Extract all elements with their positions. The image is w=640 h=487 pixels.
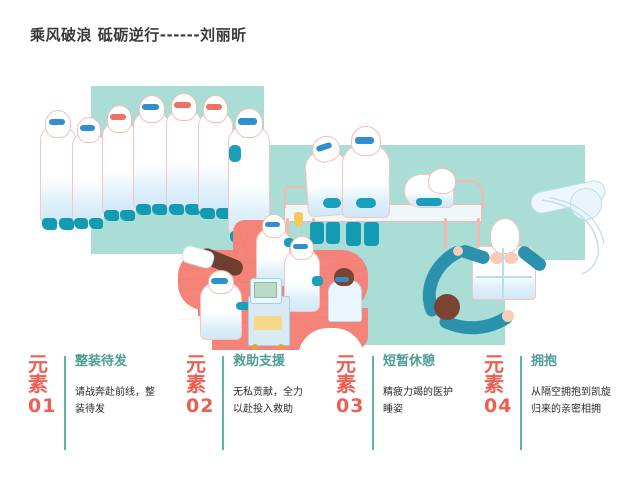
goggle-icon: [142, 104, 159, 110]
legend-text-block: 整装待发 请战奔赴前线，整装待发: [75, 352, 158, 419]
ppe-glove: [312, 276, 323, 286]
legend-item-01: 元素 01 整装待发 请战奔赴前线，整装待发: [0, 352, 158, 462]
ppe-glove: [356, 198, 376, 208]
ppe-glove: [229, 145, 241, 162]
embrace-arm-curve: [412, 246, 522, 338]
ppe-boot: [104, 210, 119, 221]
ppe-glove: [323, 198, 341, 208]
ppe-boot: [89, 218, 103, 229]
legend-heading: 短暂休憩: [383, 354, 456, 370]
goggle-icon: [206, 104, 222, 110]
legend-item-02: 元素 02 救助支援 无私贡献，全力以赴投入救助: [158, 352, 308, 462]
hair-bun: [434, 294, 460, 320]
ppe-suit: [102, 122, 137, 216]
goggle-icon: [355, 137, 374, 144]
element-mark-03: 元素 03: [336, 352, 366, 416]
ppe-suit: [72, 132, 105, 224]
scene-rescue-figures: [178, 220, 368, 352]
legend-divider: [222, 356, 224, 450]
gloved-hand: [180, 244, 216, 270]
goggle-icon: [49, 119, 65, 125]
scene-embrace: [420, 190, 610, 340]
ppe-boot: [74, 218, 88, 229]
arm-outline: [538, 196, 608, 276]
ppe-boot: [152, 204, 167, 215]
legend-item-04: 元素 04 拥抱 从隔空拥抱到凯旋归来的亲密相拥: [456, 352, 640, 462]
element-mark-number: 01: [28, 397, 58, 416]
legend-heading: 整装待发: [75, 354, 158, 370]
legend-body: 从隔空拥抱到凯旋归来的亲密相拥: [531, 384, 617, 419]
element-mark-label: 元素: [28, 354, 58, 395]
legend-divider: [520, 356, 522, 450]
ppe-boot: [120, 210, 135, 221]
ppe-suit: [133, 112, 170, 210]
legend-text-block: 拥抱 从隔空拥抱到凯旋归来的亲密相拥: [531, 352, 617, 419]
goggle-icon: [174, 102, 191, 108]
cart-wheel: [252, 344, 258, 350]
legend-heading: 拥抱: [531, 354, 617, 370]
legend-divider: [372, 356, 374, 450]
page-title: 乘风破浪 砥砺逆行------刘丽昕: [30, 24, 247, 45]
cart-wheel: [278, 344, 284, 350]
legend-body: 无私贡献，全力以赴投入救助: [233, 384, 308, 419]
illustration-stage: [0, 60, 640, 350]
legend-text-block: 短暂休憩 精疲力竭的医护睡姿: [383, 352, 456, 419]
element-mark-number: 03: [336, 397, 366, 416]
element-mark-label: 元素: [484, 354, 514, 395]
legend-body: 精疲力竭的医护睡姿: [383, 384, 456, 419]
ppe-suit: [40, 126, 76, 224]
element-mark-number: 04: [484, 397, 514, 416]
legend-body: 请战奔赴前线，整装待发: [75, 384, 158, 419]
goggle-icon: [265, 222, 280, 227]
goggle-icon: [110, 114, 126, 120]
goggle-icon: [80, 125, 95, 131]
patient-body: [328, 280, 362, 322]
equipment-drawer: [254, 316, 282, 330]
legend-row: 元素 01 整装待发 请战奔赴前线，整装待发 元素 02 救助支援 无私贡献，全…: [0, 352, 640, 462]
monitor-screen: [254, 282, 277, 298]
ppe-boot: [42, 218, 57, 230]
ppe-boot: [200, 208, 215, 219]
ppe-boot: [136, 204, 151, 215]
legend-heading: 救助支援: [233, 354, 308, 370]
legend-text-block: 救助支援 无私贡献，全力以赴投入救助: [233, 352, 308, 419]
ppe-suit: [166, 110, 202, 210]
goggle-icon: [211, 278, 228, 284]
ppe-boot: [169, 204, 184, 215]
iv-bag: [294, 212, 303, 226]
element-mark-01: 元素 01: [28, 352, 58, 416]
element-mark-02: 元素 02: [186, 352, 216, 416]
element-mark-label: 元素: [336, 354, 366, 395]
mask-icon: [335, 277, 349, 282]
element-mark-label: 元素: [186, 354, 216, 395]
goggle-icon: [293, 244, 308, 249]
legend-divider: [64, 356, 66, 450]
goggle-icon: [238, 118, 257, 125]
element-mark-04: 元素 04: [484, 352, 514, 416]
legend-item-03: 元素 03 短暂休憩 精疲力竭的医护睡姿: [308, 352, 456, 462]
element-mark-number: 02: [186, 397, 216, 416]
